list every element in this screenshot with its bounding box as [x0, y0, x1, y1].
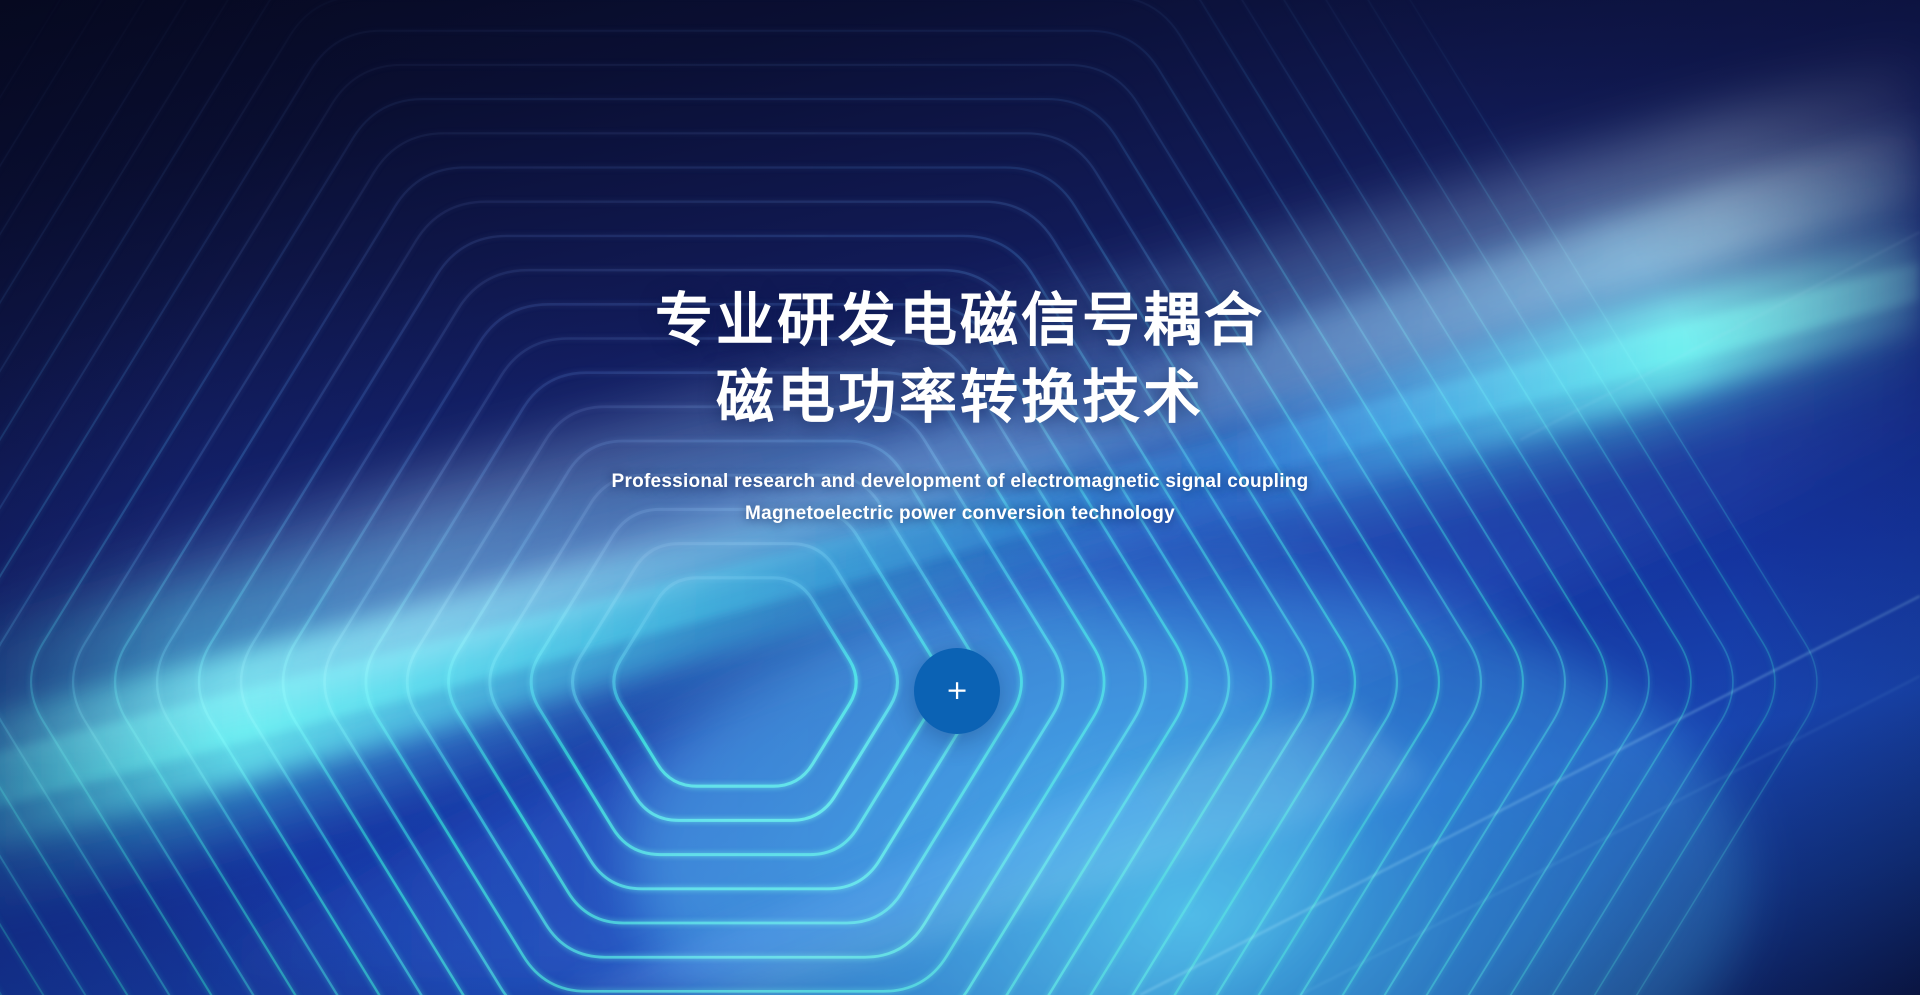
hero-banner: 专业研发电磁信号耦合 磁电功率转换技术 Professional researc… [0, 0, 1920, 995]
expand-plus-button[interactable]: + [914, 648, 1000, 734]
plus-icon: + [946, 677, 969, 704]
background-gradient [0, 0, 1920, 995]
